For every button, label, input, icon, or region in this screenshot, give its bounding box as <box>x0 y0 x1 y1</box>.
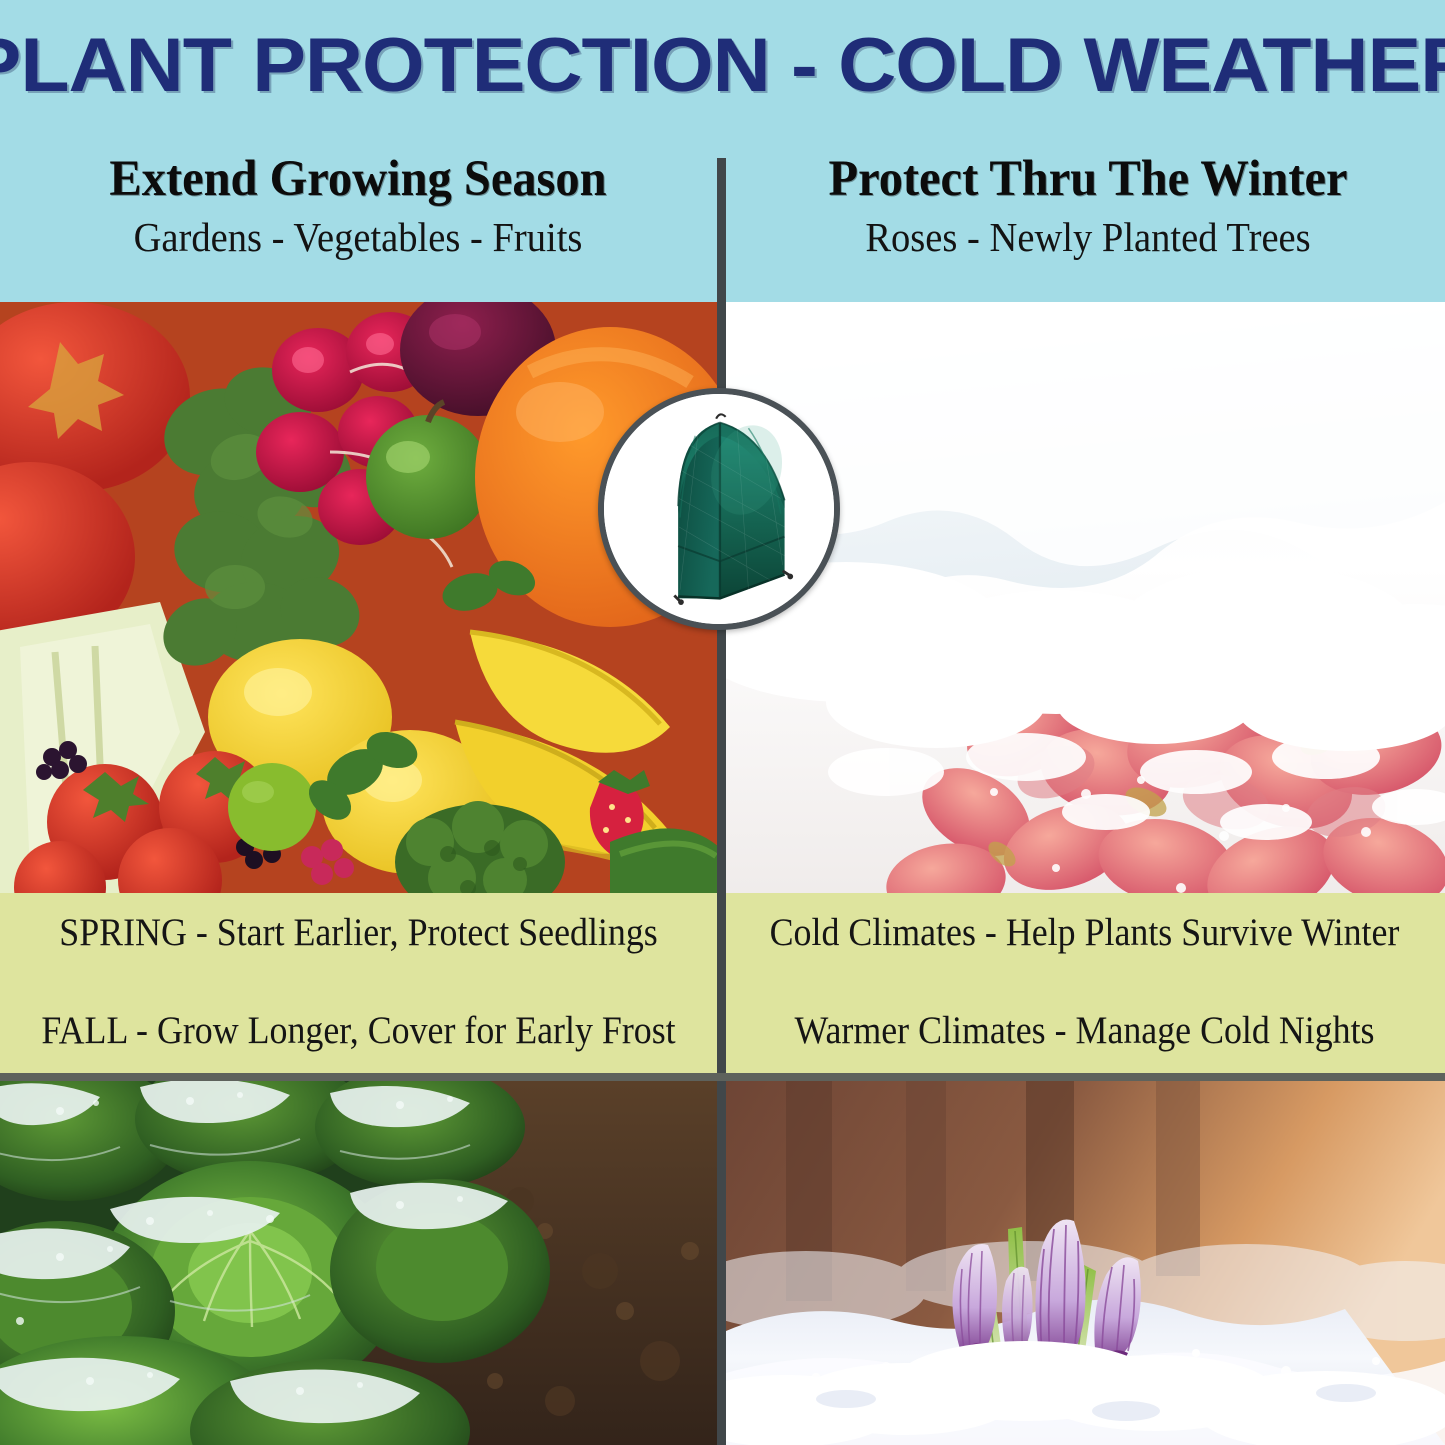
header-right-subtitle: Roses - Newly Planted Trees <box>759 212 1417 262</box>
plant-cover-tent-icon <box>604 394 834 624</box>
produce-photo-art <box>0 302 717 893</box>
benefits-column-right: Cold Climates - Help Plants Survive Wint… <box>726 893 1443 1073</box>
photo-divider-bottom <box>717 1081 726 1445</box>
header-left-subtitle: Gardens - Vegetables - Fruits <box>29 212 687 262</box>
crocus-snow-art <box>726 1081 1445 1445</box>
band-bottom-rule <box>0 1073 1445 1081</box>
benefit-fall: FALL - Grow Longer, Cover for Early Fros… <box>29 1007 689 1055</box>
page-title: PLANT PROTECTION - COLD WEATHER <box>0 24 1445 108</box>
benefits-column-left: SPRING - Start Earlier, Protect Seedling… <box>0 893 717 1073</box>
header-column-left: Extend Growing Season Gardens - Vegetabl… <box>8 150 708 262</box>
band-vertical-divider <box>717 893 726 1073</box>
header-banner: PLANT PROTECTION - COLD WEATHER Extend G… <box>0 0 1445 302</box>
frost-cabbage-photo <box>0 1081 717 1445</box>
benefit-warmer-climates: Warmer Climates - Manage Cold Nights <box>755 1007 1415 1055</box>
snow-hydrangea-art <box>726 302 1445 893</box>
header-column-right: Protect Thru The Winter Roses - Newly Pl… <box>738 150 1438 262</box>
header-right-title: Protect Thru The Winter <box>756 150 1421 208</box>
header-left-title: Extend Growing Season <box>26 150 691 208</box>
crocus-snow-photo <box>726 1081 1445 1445</box>
product-inset-circle <box>598 388 840 630</box>
benefit-spring: SPRING - Start Earlier, Protect Seedling… <box>29 909 689 957</box>
snow-hydrangea-photo <box>726 302 1445 893</box>
frost-cabbage-art <box>0 1081 717 1445</box>
benefit-cold-climates: Cold Climates - Help Plants Survive Wint… <box>755 909 1415 957</box>
produce-photo <box>0 302 717 893</box>
header-vertical-divider <box>717 158 726 302</box>
photo-row-bottom <box>0 1081 1445 1445</box>
infographic-poster: PLANT PROTECTION - COLD WEATHER Extend G… <box>0 0 1445 1445</box>
